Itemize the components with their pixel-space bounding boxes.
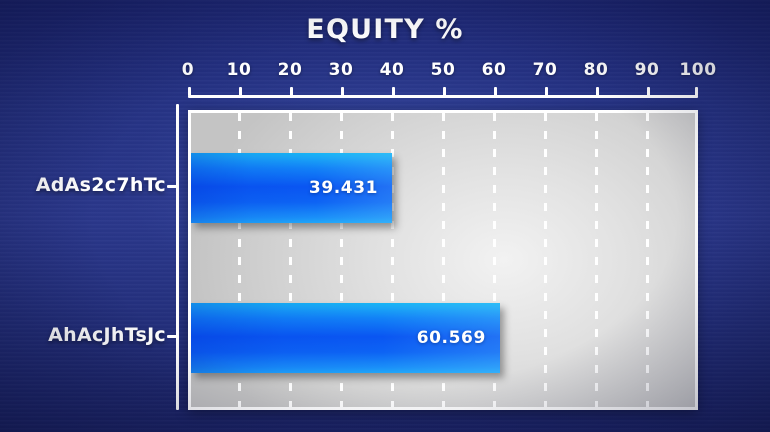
x-axis-line	[188, 95, 698, 98]
chart-title: EQUITY %	[0, 14, 770, 45]
x-axis-tick-mark	[596, 87, 599, 96]
x-tick-label: 100	[679, 60, 716, 80]
x-axis-tick-mark	[392, 87, 395, 96]
bar: 39.431	[191, 153, 392, 223]
x-tick-label: 70	[533, 60, 558, 80]
bar: 60.569	[191, 303, 500, 373]
y-axis-line	[176, 104, 179, 410]
x-tick-label: 30	[329, 60, 354, 80]
x-tick-label: 20	[278, 60, 303, 80]
y-axis-tick-mark	[167, 185, 177, 188]
x-axis-tick-mark	[290, 87, 293, 96]
x-axis-tick-mark	[545, 87, 548, 96]
x-tick-label: 40	[380, 60, 405, 80]
x-tick-label: 80	[584, 60, 609, 80]
x-tick-label: 90	[635, 60, 660, 80]
bar-value-label: 60.569	[417, 328, 486, 348]
y-category-label: AhAcJhTsJc	[48, 324, 166, 346]
y-axis-tick-mark	[167, 335, 177, 338]
bar-value-label: 39.431	[309, 178, 378, 198]
x-axis-tick-mark	[494, 87, 497, 96]
x-axis-tick-mark	[695, 87, 698, 96]
x-axis-tick-mark	[443, 87, 446, 96]
x-axis-tick-mark	[341, 87, 344, 96]
gridline	[544, 113, 547, 407]
x-axis-tick-mark	[647, 87, 650, 96]
x-tick-label: 10	[227, 60, 252, 80]
x-tick-label: 60	[482, 60, 507, 80]
plot-area: 39.43160.569	[188, 110, 698, 410]
y-axis-category-labels: AdAs2c7hTcAhAcJhTsJc	[0, 104, 166, 410]
gridline	[646, 113, 649, 407]
gridline	[595, 113, 598, 407]
x-axis-tick-mark	[239, 87, 242, 96]
y-category-label: AdAs2c7hTc	[36, 174, 166, 196]
x-axis-tick-mark	[188, 87, 191, 96]
x-tick-label: 0	[182, 60, 194, 80]
equity-bar-chart: EQUITY % 0102030405060708090100 AdAs2c7h…	[0, 0, 770, 432]
x-tick-label: 50	[431, 60, 456, 80]
x-axis-tick-labels: 0102030405060708090100	[188, 60, 697, 82]
